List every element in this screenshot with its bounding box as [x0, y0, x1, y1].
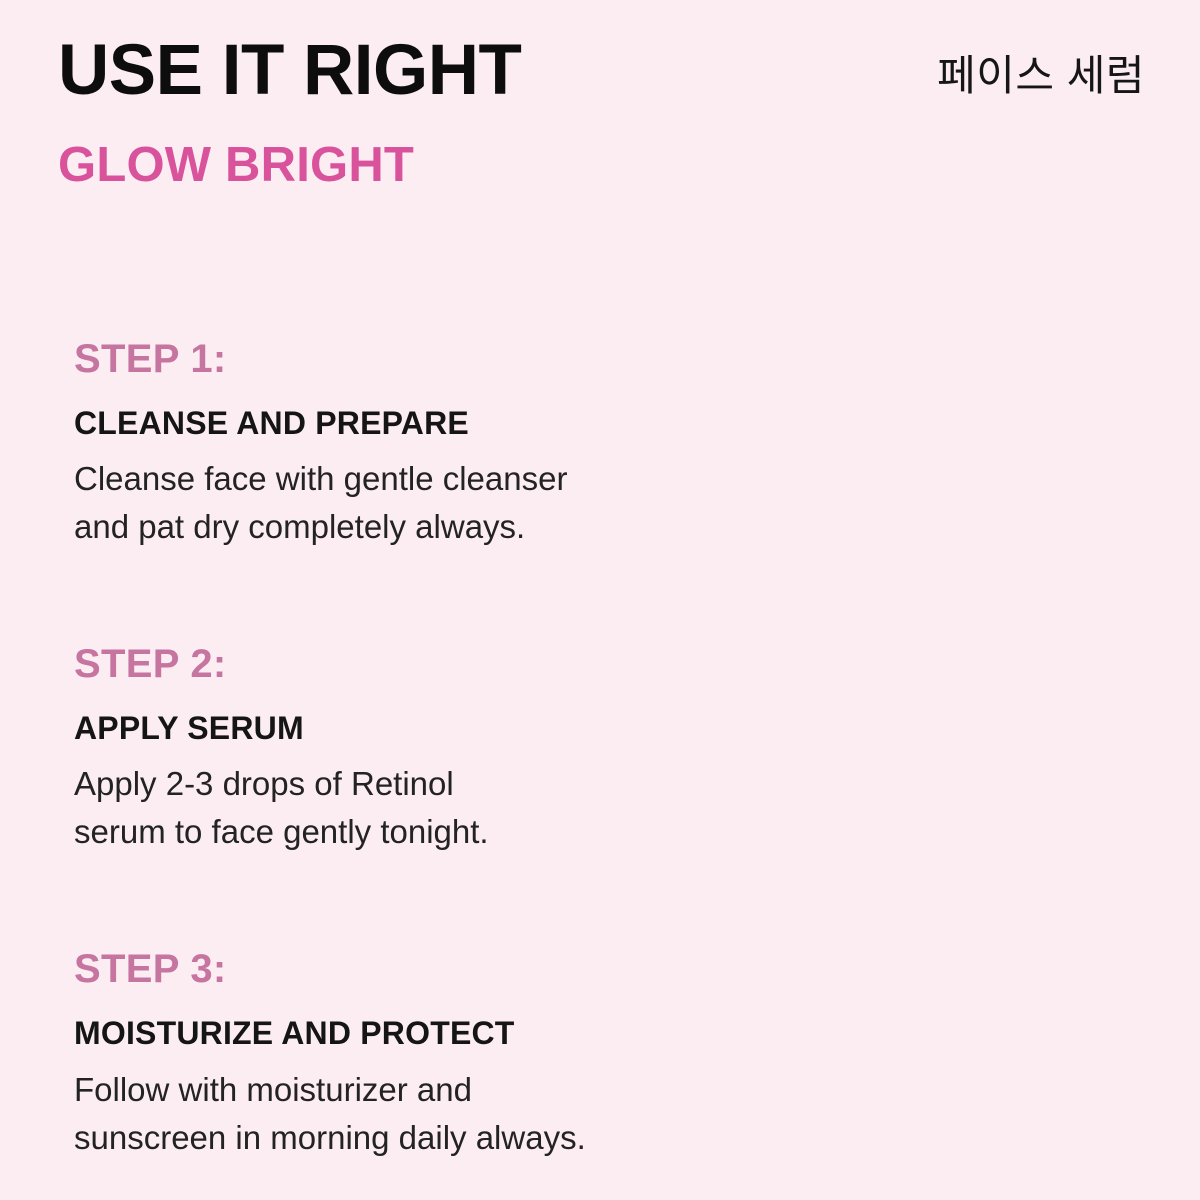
- step-2-title: APPLY SERUM: [74, 711, 774, 746]
- step-3-description-line-1: Follow with moisturizer and: [74, 1066, 694, 1114]
- step-3-title: MOISTURIZE AND PROTECT: [74, 1016, 774, 1051]
- step-item-2: STEP 2: APPLY SERUM Apply 2-3 drops of R…: [74, 643, 774, 856]
- step-3-description-line-2: sunscreen in morning daily always.: [74, 1114, 694, 1162]
- step-1-description: Cleanse face with gentle cleanser and pa…: [74, 455, 694, 551]
- product-label-korean: 페이스 세럼: [937, 38, 1145, 98]
- page-subtitle: GLOW BRIGHT: [58, 141, 414, 190]
- step-item-3: STEP 3: MOISTURIZE AND PROTECT Follow wi…: [74, 948, 774, 1161]
- step-2-description-line-1: Apply 2-3 drops of Retinol: [74, 760, 694, 808]
- step-1-description-line-2: and pat dry completely always.: [74, 503, 694, 551]
- step-2-label: STEP 2:: [74, 643, 774, 685]
- step-item-1: STEP 1: CLEANSE AND PREPARE Cleanse face…: [74, 338, 774, 551]
- poster-canvas: USE IT RIGHT 페이스 세럼 GLOW BRIGHT STEP 1: …: [0, 0, 1200, 1200]
- step-3-label: STEP 3:: [74, 948, 774, 990]
- step-1-title: CLEANSE AND PREPARE: [74, 406, 774, 441]
- header: USE IT RIGHT 페이스 세럼: [58, 38, 1145, 120]
- step-1-label: STEP 1:: [74, 338, 774, 380]
- step-3-description: Follow with moisturizer and sunscreen in…: [74, 1066, 694, 1162]
- steps-list: STEP 1: CLEANSE AND PREPARE Cleanse face…: [74, 338, 774, 1162]
- step-2-description-line-2: serum to face gently tonight.: [74, 808, 694, 856]
- step-1-description-line-1: Cleanse face with gentle cleanser: [74, 455, 694, 503]
- step-2-description: Apply 2-3 drops of Retinol serum to face…: [74, 760, 694, 856]
- page-title: USE IT RIGHT: [58, 38, 521, 103]
